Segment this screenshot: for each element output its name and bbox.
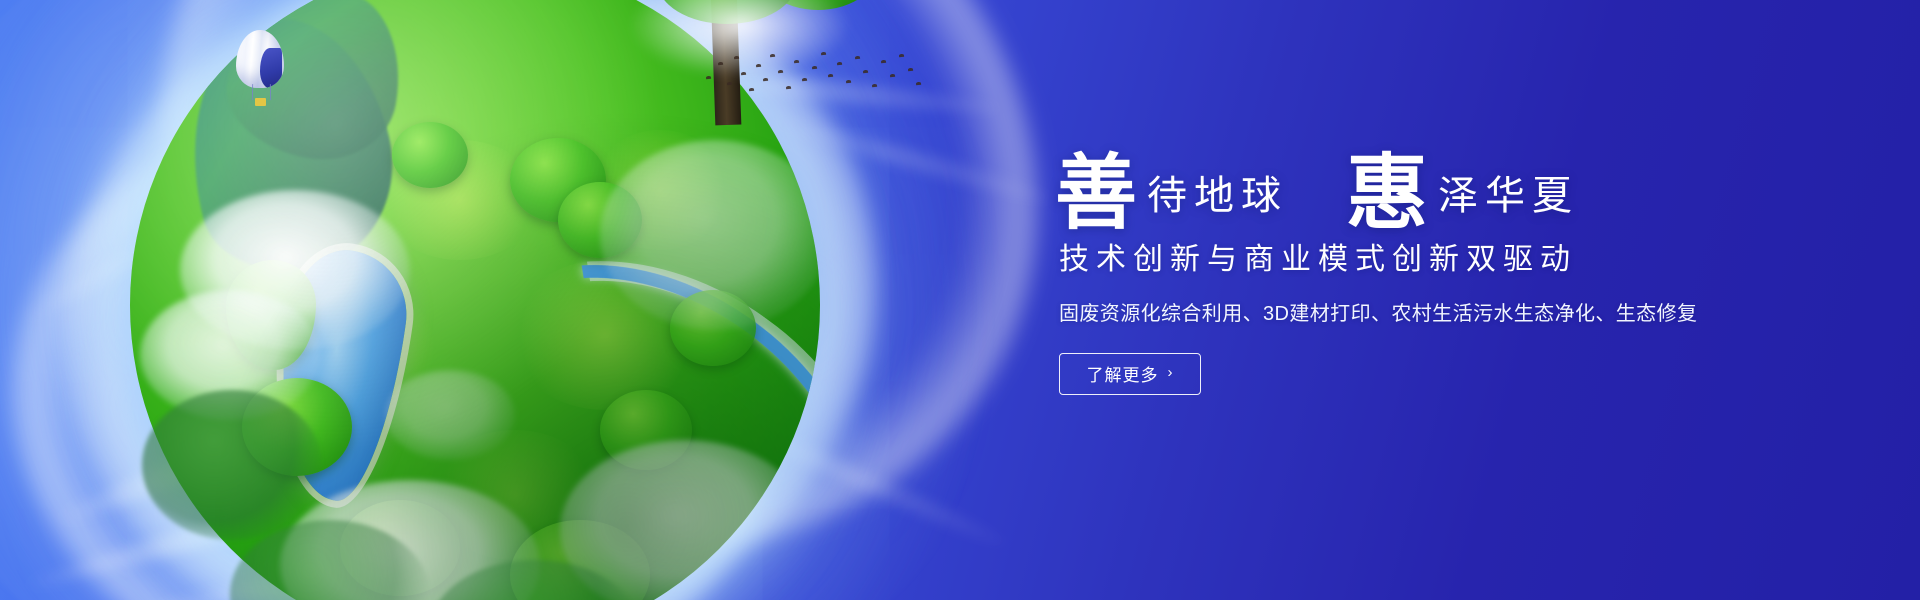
tree-canopy bbox=[753, 0, 883, 10]
bird-icon bbox=[734, 56, 739, 60]
hero-copy: 善 待地球 惠 泽华夏 技术创新与商业模式创新双驱动 固废资源化综合利用、3D建… bbox=[1055, 150, 1675, 395]
cloud-wisp bbox=[123, 512, 577, 600]
lake bbox=[263, 243, 415, 507]
bird-icon bbox=[718, 62, 723, 66]
balloon-envelope bbox=[236, 30, 284, 88]
headline-brush-char-1: 善 bbox=[1055, 156, 1137, 231]
bird-icon bbox=[763, 78, 768, 82]
bird-icon bbox=[802, 78, 807, 82]
bird-icon bbox=[770, 54, 775, 58]
bird-icon bbox=[741, 72, 746, 76]
bird-icon bbox=[855, 56, 860, 60]
grass-texture bbox=[310, 290, 440, 400]
grass-texture bbox=[430, 430, 600, 560]
bird-icon bbox=[890, 74, 895, 78]
bird-icon bbox=[846, 80, 851, 84]
bird-icon bbox=[872, 84, 877, 88]
silhouette-tree bbox=[430, 560, 640, 600]
balloon-basket bbox=[255, 98, 266, 106]
hero-headline: 善 待地球 惠 泽华夏 bbox=[1055, 150, 1675, 225]
learn-more-label: 了解更多 bbox=[1087, 361, 1159, 386]
headline-rest-2: 泽华夏 bbox=[1428, 176, 1579, 216]
cloud-on-globe bbox=[600, 140, 820, 330]
bird-icon bbox=[794, 60, 799, 64]
bird-icon bbox=[908, 68, 913, 72]
river-bank bbox=[369, 179, 820, 600]
tree-canopy bbox=[226, 260, 316, 370]
cloud-wisp bbox=[50, 352, 449, 533]
bird-icon bbox=[881, 60, 886, 64]
tree-canopy bbox=[510, 138, 606, 222]
tree-canopy bbox=[600, 390, 692, 470]
cloud-band bbox=[34, 0, 1165, 600]
bird-icon bbox=[778, 70, 783, 74]
bird-icon bbox=[786, 86, 791, 90]
tree-canopy bbox=[558, 182, 642, 258]
bird-icon bbox=[916, 82, 921, 86]
cloud-band bbox=[0, 60, 808, 600]
tree-canopy bbox=[242, 378, 352, 476]
tree-canopy bbox=[670, 290, 756, 366]
grass-texture bbox=[380, 140, 540, 260]
hero-tagline: 固废资源化综合利用、3D建材打印、农村生活污水生态净化、生态修复 bbox=[1059, 301, 1675, 327]
cloud-on-globe bbox=[180, 190, 410, 350]
balloon-stripe bbox=[260, 48, 282, 88]
cloud-on-globe bbox=[140, 290, 320, 420]
mountain-ridge bbox=[161, 0, 416, 290]
cloud-wisp bbox=[763, 109, 1056, 209]
hot-air-balloon bbox=[236, 30, 284, 108]
grass-texture bbox=[510, 260, 700, 410]
tree-canopy bbox=[392, 122, 468, 188]
bird-icon bbox=[756, 64, 761, 68]
cloud-on-globe bbox=[560, 440, 810, 600]
headline-brush-char-2: 惠 bbox=[1346, 156, 1428, 231]
hero-banner: 善 待地球 惠 泽华夏 技术创新与商业模式创新双驱动 固废资源化综合利用、3D建… bbox=[0, 0, 1920, 600]
bird-icon bbox=[828, 74, 833, 78]
cloud-wisp bbox=[17, 434, 523, 598]
cloud-on-globe bbox=[280, 480, 540, 600]
bird-icon bbox=[749, 88, 754, 92]
cloud-wisp bbox=[710, 406, 1010, 553]
bird-icon bbox=[727, 82, 732, 86]
headline-rest-1: 待地球 bbox=[1137, 176, 1288, 216]
bird-icon bbox=[821, 52, 826, 56]
silhouette-tree bbox=[230, 520, 430, 600]
bird-icon bbox=[812, 66, 817, 70]
silhouette-tree bbox=[142, 390, 322, 540]
cloud-wisp bbox=[13, 186, 246, 330]
grass-texture bbox=[590, 130, 730, 250]
cloud-wisp bbox=[300, 0, 719, 63]
river bbox=[378, 187, 820, 600]
tree-canopy bbox=[340, 500, 460, 596]
tree-canopy bbox=[657, 0, 797, 24]
bird-icon bbox=[863, 70, 868, 74]
learn-more-button[interactable]: 了解更多 › bbox=[1059, 353, 1201, 395]
chevron-right-icon: › bbox=[1168, 365, 1174, 380]
bird-icon bbox=[706, 76, 711, 80]
cloud-on-globe bbox=[385, 370, 515, 460]
tree-canopy bbox=[510, 520, 650, 600]
bird-icon bbox=[837, 62, 842, 66]
bird-icon bbox=[899, 54, 904, 58]
hero-subtitle: 技术创新与商业模式创新双驱动 bbox=[1059, 241, 1675, 279]
flock-of-birds bbox=[700, 48, 930, 110]
